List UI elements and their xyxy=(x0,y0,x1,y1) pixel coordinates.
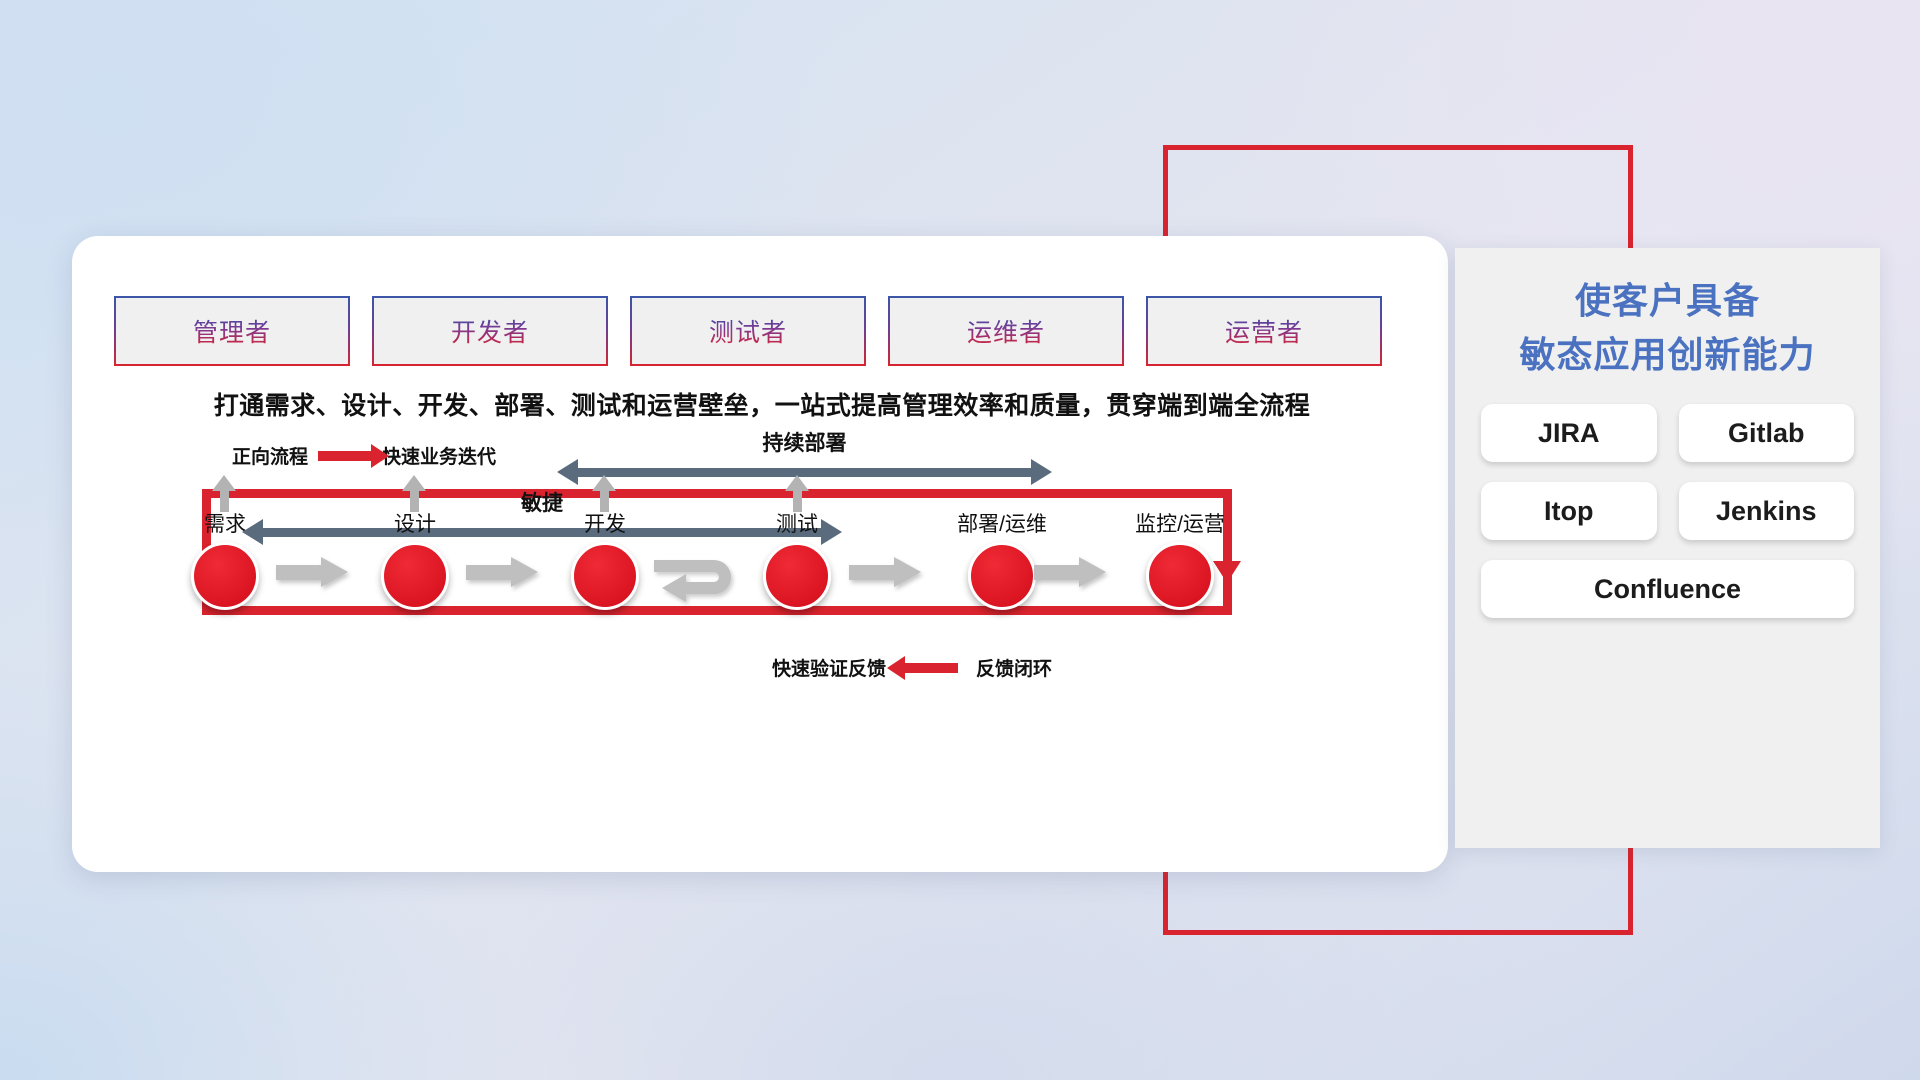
devops-diagram-card: 管理者 开发者 测试者 运维者 运营者 打通需求、设计、开发、部署、测试和运营壁… xyxy=(72,236,1448,872)
stage-riser-design xyxy=(410,490,419,512)
tool-tag-itop[interactable]: Itop xyxy=(1481,482,1657,540)
pipeline-stage-develop[interactable]: 开发 xyxy=(550,508,660,610)
tool-tag-jira[interactable]: JIRA xyxy=(1481,404,1657,462)
outer-bracket-right-bottom xyxy=(1628,845,1633,935)
tool-tag-confluence[interactable]: Confluence xyxy=(1481,560,1854,618)
stage-riser-develop xyxy=(600,490,609,512)
stage-label: 部署/运维 xyxy=(927,508,1077,538)
forward-flow-caption: 正向流程 快速业务迭代 xyxy=(232,442,496,469)
pipeline-stage-requirement[interactable]: 需求 xyxy=(170,508,280,610)
role-chip-label: 运维者 xyxy=(967,313,1045,349)
role-chip-row: 管理者 开发者 测试者 运维者 运营者 xyxy=(114,296,1382,366)
tool-tag-gitlab[interactable]: Gitlab xyxy=(1679,404,1855,462)
outer-bracket-top xyxy=(1163,145,1633,150)
loop-back-arrow-icon xyxy=(652,544,762,614)
stage-dot xyxy=(1146,542,1214,610)
stage-dot xyxy=(763,542,831,610)
role-chip-tester[interactable]: 测试者 xyxy=(630,296,866,366)
role-chip-manager[interactable]: 管理者 xyxy=(114,296,350,366)
pipeline-stage-monitor-operate[interactable]: 监控/运营 xyxy=(1105,508,1255,610)
arrow-head-left-icon xyxy=(557,459,578,485)
forward-flow-right-label: 快速业务迭代 xyxy=(382,442,496,469)
panel-title: 使客户具备 敏态应用创新能力 xyxy=(1455,248,1880,382)
role-chip-label: 管理者 xyxy=(193,313,271,349)
role-chip-operator[interactable]: 运营者 xyxy=(1146,296,1382,366)
stage-dot xyxy=(381,542,449,610)
arrow-head-right-icon xyxy=(1031,459,1052,485)
feedback-caption: 快速验证反馈 反馈闭环 xyxy=(772,654,1052,681)
stage-riser-test xyxy=(793,490,802,512)
stage-label: 需求 xyxy=(170,508,280,538)
stage-label: 监控/运营 xyxy=(1105,508,1255,538)
panel-title-line2: 敏态应用创新能力 xyxy=(1455,328,1880,382)
tool-tag-jenkins[interactable]: Jenkins xyxy=(1679,482,1855,540)
pipeline-stage-deploy-ops[interactable]: 部署/运维 xyxy=(927,508,1077,610)
panel-title-line1: 使客户具备 xyxy=(1455,274,1880,328)
stage-label: 测试 xyxy=(742,508,852,538)
stage-dot xyxy=(191,542,259,610)
continuous-deployment-label: 持续部署 xyxy=(557,427,1052,457)
pipeline: 需求 设计 开发 测试 部署/运维 监控/运营 xyxy=(72,508,1448,618)
value-proposition-panel: 使客户具备 敏态应用创新能力 JIRA Gitlab Itop Jenkins … xyxy=(1455,248,1880,848)
headline-text: 打通需求、设计、开发、部署、测试和运营壁垒，一站式提高管理效率和质量，贯穿端到端… xyxy=(112,386,1412,422)
role-chip-label: 测试者 xyxy=(709,313,787,349)
stage-riser-requirement xyxy=(220,490,229,512)
block-arrow-right-icon xyxy=(849,560,921,584)
red-arrow-right-icon xyxy=(318,451,372,461)
role-chip-label: 运营者 xyxy=(1225,313,1303,349)
tool-tag-grid: JIRA Gitlab Itop Jenkins Confluence xyxy=(1455,382,1880,618)
role-chip-ops[interactable]: 运维者 xyxy=(888,296,1124,366)
block-arrow-right-icon xyxy=(1034,560,1106,584)
stage-dot xyxy=(968,542,1036,610)
stage-dot xyxy=(571,542,639,610)
feedback-right-label: 反馈闭环 xyxy=(976,654,1052,681)
red-arrow-left-icon xyxy=(904,663,958,673)
outer-bracket-right-top xyxy=(1628,145,1633,260)
role-chip-label: 开发者 xyxy=(451,313,529,349)
outer-bracket-bottom xyxy=(1163,930,1633,935)
forward-flow-left-label: 正向流程 xyxy=(232,442,308,469)
role-chip-developer[interactable]: 开发者 xyxy=(372,296,608,366)
pipeline-stage-design[interactable]: 设计 xyxy=(360,508,470,610)
block-arrow-right-icon xyxy=(466,560,538,584)
feedback-left-label: 快速验证反馈 xyxy=(772,654,886,681)
stage-label: 开发 xyxy=(550,508,660,538)
block-arrow-right-icon xyxy=(276,560,348,584)
stage-label: 设计 xyxy=(360,508,470,538)
